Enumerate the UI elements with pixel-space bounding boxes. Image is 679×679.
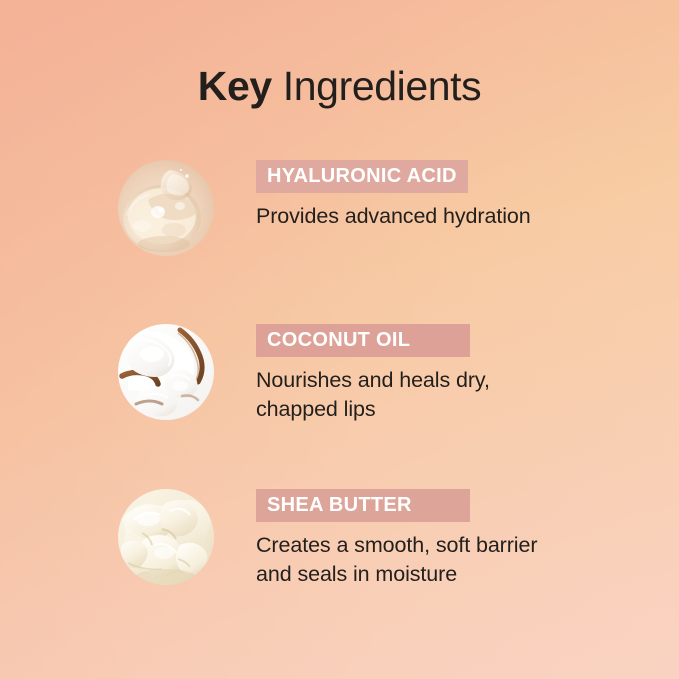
page-title: Key Ingredients	[0, 60, 679, 112]
ingredient-description-line2: and seals in moisture	[256, 560, 596, 589]
coconut-pieces-image	[118, 324, 214, 420]
ingredient-description-line1: Nourishes and heals dry,	[256, 368, 490, 392]
ingredient-row: COCONUT OIL Nourishes and heals dry, cha…	[0, 324, 679, 444]
ingredient-row: SHEA BUTTER Creates a smooth, soft barri…	[0, 489, 679, 609]
ingredient-description: Nourishes and heals dry, chapped lips	[256, 366, 596, 424]
ingredient-description-line1: Provides advanced hydration	[256, 204, 531, 228]
ingredient-thumbnail-wrap	[118, 160, 214, 256]
ingredient-name-badge: SHEA BUTTER	[256, 489, 470, 522]
ingredient-description-line1: Creates a smooth, soft barrier	[256, 533, 537, 557]
ingredient-row: HYALURONIC ACID Provides advanced hydrat…	[0, 160, 679, 280]
page-title-strong: Key	[198, 63, 272, 109]
page-title-light: Ingredients	[272, 63, 481, 109]
ingredient-text-column: SHEA BUTTER Creates a smooth, soft barri…	[256, 489, 656, 589]
hyaluronic-acid-serum-drop-image	[118, 160, 214, 256]
key-ingredients-infographic: Key Ingredients	[0, 0, 679, 679]
ingredient-thumbnail-wrap	[118, 324, 214, 420]
ingredient-description: Creates a smooth, soft barrier and seals…	[256, 531, 596, 589]
ingredient-thumbnail-wrap	[118, 489, 214, 585]
ingredient-text-column: HYALURONIC ACID Provides advanced hydrat…	[256, 160, 656, 231]
ingredient-name-badge: HYALURONIC ACID	[256, 160, 468, 193]
ingredient-description-line2: chapped lips	[256, 395, 596, 424]
ingredient-name-badge: COCONUT OIL	[256, 324, 470, 357]
shea-butter-chunks-image	[118, 489, 214, 585]
ingredient-description: Provides advanced hydration	[256, 202, 596, 231]
ingredient-text-column: COCONUT OIL Nourishes and heals dry, cha…	[256, 324, 656, 424]
